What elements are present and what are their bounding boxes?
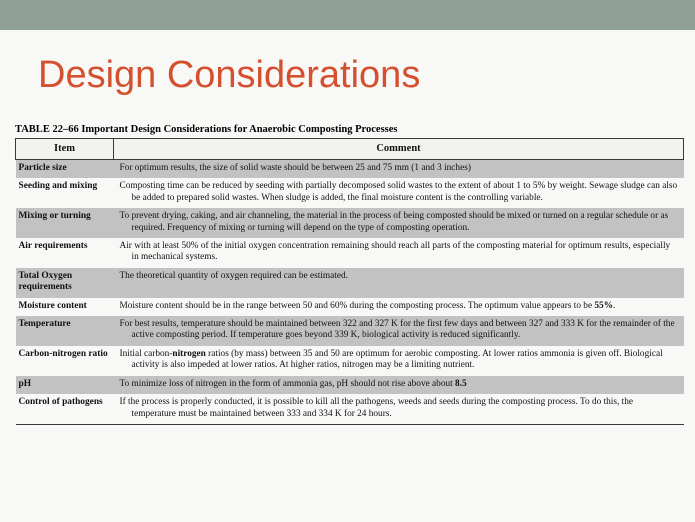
row-comment-text: The theoretical quantity of oxygen requi… [114,268,684,298]
row-item-label: Total Oxygen requirements [16,268,114,298]
row-item-label: Mixing or turning [16,208,114,238]
table-body: Particle sizeFor optimum results, the si… [16,160,684,425]
table-row: Moisture contentMoisture content should … [16,298,684,316]
table-caption: TABLE 22–66 Important Design Considerati… [15,123,683,138]
row-comment-text: If the process is properly conducted, it… [114,394,684,424]
column-header-item: Item [16,139,114,160]
table-header-row: Item Comment [16,139,684,160]
row-item-label: Temperature [16,316,114,346]
table-row: Total Oxygen requirementsThe theoretical… [16,268,684,298]
row-comment-text: Composting time can be reduced by seedin… [114,178,684,208]
table-row: TemperatureFor best results, temperature… [16,316,684,346]
table-row: Seeding and mixingComposting time can be… [16,178,684,208]
design-considerations-table-container: TABLE 22–66 Important Design Considerati… [15,123,683,425]
row-item-label: Carbon-nitrogen ratio [16,346,114,376]
table-row: Carbon-nitrogen ratioInitial carbon-nitr… [16,346,684,376]
row-item-label: Control of pathogens [16,394,114,424]
table-row: Particle sizeFor optimum results, the si… [16,160,684,179]
slide-top-banner [0,0,695,30]
table-row: Mixing or turningTo prevent drying, caki… [16,208,684,238]
table-row: Control of pathogensIf the process is pr… [16,394,684,424]
table-row: Air requirementsAir with at least 50% of… [16,238,684,268]
column-header-comment: Comment [114,139,684,160]
row-comment-text: For optimum results, the size of solid w… [114,160,684,179]
row-comment-text: Air with at least 50% of the initial oxy… [114,238,684,268]
table-row: pHTo minimize loss of nitrogen in the fo… [16,376,684,394]
row-comment-text: To minimize loss of nitrogen in the form… [114,376,684,394]
row-item-label: Seeding and mixing [16,178,114,208]
page-title: Design Considerations [38,52,420,98]
row-comment-text: For best results, temperature should be … [114,316,684,346]
row-comment-text: Moisture content should be in the range … [114,298,684,316]
row-item-label: pH [16,376,114,394]
row-item-label: Particle size [16,160,114,179]
table-header: Item Comment [16,139,684,160]
design-considerations-table: Item Comment Particle sizeFor optimum re… [15,138,684,425]
row-comment-text: Initial carbon-nitrogen ratios (by mass)… [114,346,684,376]
row-item-label: Air requirements [16,238,114,268]
row-comment-text: To prevent drying, caking, and air chann… [114,208,684,238]
row-item-label: Moisture content [16,298,114,316]
